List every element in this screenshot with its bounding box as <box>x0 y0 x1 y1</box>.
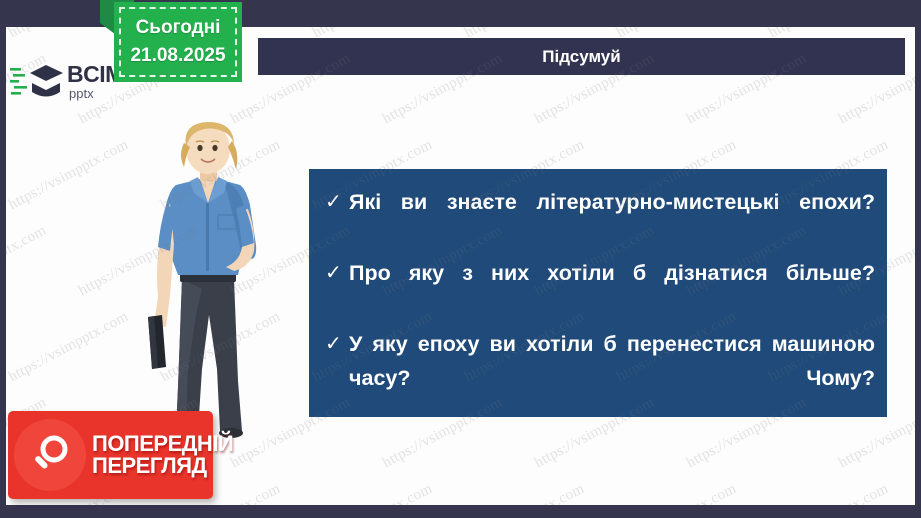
watermark-text: https://vsimpptx.com <box>766 481 891 505</box>
magnifier-icon <box>14 419 86 491</box>
check-icon: ✓ <box>325 256 349 290</box>
watermark-text: https://vsimpptx.com <box>614 481 739 505</box>
question-text: У яку епоху ви хотіли б перенестися маши… <box>349 327 875 429</box>
today-date: 21.08.2025 <box>130 45 225 67</box>
preview-badge-line2: ПЕРЕГЛЯД <box>92 455 233 477</box>
teacher-illustration <box>114 119 304 439</box>
page-title: Підсумуй <box>542 47 620 67</box>
watermark-text: https://vsimpptx.com <box>310 481 435 505</box>
today-label: Сьогодні <box>136 17 221 39</box>
summary-question-box: ✓ Які ви знаєте літературно-мистецькі еп… <box>309 169 887 417</box>
question-text: Про яку з них хотіли б дізнатися більше? <box>349 256 875 324</box>
slide-outer-frame: BCIM pptx <box>0 0 921 518</box>
preview-badge-line1: ПОПЕРЕДНІЙ <box>92 433 233 455</box>
list-item: ✓ Які ви знаєте літературно-мистецькі еп… <box>325 185 875 253</box>
question-text: Які ви знаєте літературно-мистецькі епох… <box>349 185 875 253</box>
today-date-ribbon: Сьогодні 21.08.2025 <box>100 0 255 86</box>
watermark-text: https://vsimpptx.com <box>6 137 131 214</box>
watermark-text: https://vsimpptx.com <box>6 309 131 386</box>
list-item: ✓ Про яку з них хотіли б дізнатися більш… <box>325 256 875 324</box>
check-icon: ✓ <box>325 327 349 361</box>
graduation-cap-icon <box>10 59 66 103</box>
slide-header-bar: Підсумуй <box>258 38 905 75</box>
watermark-text: https://vsimpptx.com <box>462 481 587 505</box>
logo-suffix-text: pptx <box>69 87 124 100</box>
watermark-text: https://vsimpptx.com <box>6 223 49 300</box>
list-item: ✓ У яку епоху ви хотіли б перенестися ма… <box>325 327 875 429</box>
check-icon: ✓ <box>325 185 349 219</box>
preview-badge[interactable]: ПОПЕРЕДНІЙ ПЕРЕГЛЯД <box>8 411 213 499</box>
